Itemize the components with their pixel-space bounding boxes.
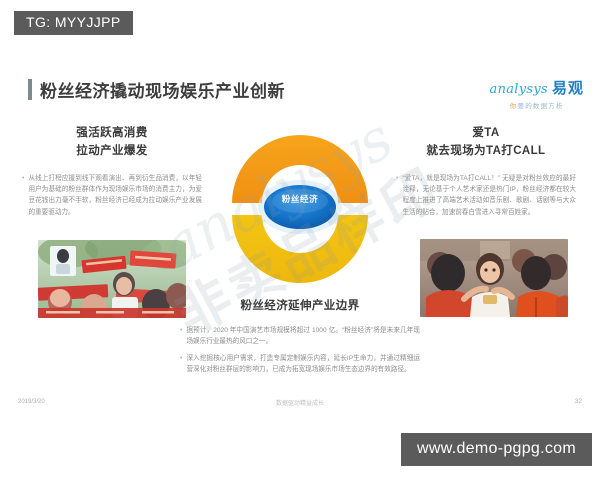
- bullet-dot-icon: •: [180, 325, 182, 348]
- list-item: • “爱TA，就是现场为TA打CALL！” 无疑是对粉丝效应的最好诠释，无论基于…: [396, 173, 576, 218]
- logo-tagline: 你要的数据方析: [490, 100, 584, 110]
- list-item: • 深入挖掘核心用户需求，打造专属定制娱乐内容，延长IP生命力，并通过精细运营深…: [180, 353, 420, 376]
- bullet-text: 从线上打榜应援到线下观看演出、再到衍生品消费，以年轻用户为基础的粉丝群体作为现场…: [28, 173, 202, 218]
- center-heading: 粉丝经济延伸产业边界: [180, 297, 420, 313]
- bullet-text: 深入挖掘核心用户需求，打造专属定制娱乐内容，延长IP生命力，并通过精细运营深化对…: [186, 353, 420, 376]
- brand-logo: analysys 易观 你要的数据方析: [490, 77, 584, 110]
- left-photo: [38, 240, 186, 318]
- slide-canvas: 粉丝经济撬动现场娱乐产业创新 analysys 易观 你要的数据方析 强活跃高消…: [0, 57, 600, 415]
- fan-economy-diagram: 粉丝经济: [212, 119, 388, 291]
- bullet-dot-icon: •: [396, 173, 398, 218]
- bullet-dot-icon: •: [180, 353, 182, 376]
- center-column: 粉丝经济延伸产业边界 • 据预计，2020 年中国演艺市场规模将超过 1000 …: [180, 297, 420, 380]
- bullet-text: “爱TA，就是现场为TA打CALL！” 无疑是对粉丝效应的最好诠释，无论基于个人…: [402, 173, 576, 218]
- list-item: • 据预计，2020 年中国演艺市场规模将超过 1000 亿。“粉丝经济”将是未…: [180, 325, 420, 348]
- left-column-heading: 强活跃高消费 拉动产业爆发: [22, 125, 202, 161]
- right-column-bullets: • “爱TA，就是现场为TA打CALL！” 无疑是对粉丝效应的最好诠释，无论基于…: [396, 173, 576, 218]
- logo-english-text: analysys: [490, 82, 548, 97]
- bullet-text: 据预计，2020 年中国演艺市场规模将超过 1000 亿。“粉丝经济”将是未来几…: [186, 325, 420, 348]
- list-item: • 从线上打榜应援到线下观看演出、再到衍生品消费，以年轻用户为基础的粉丝群体作为…: [22, 173, 202, 218]
- logo-tagline-highlight: 你: [510, 103, 518, 110]
- right-column-heading: 爱TA 就去现场为TA打CALL: [396, 125, 576, 161]
- right-heading-line-2: 就去现场为TA打CALL: [396, 143, 576, 161]
- logo-tagline-rest: 要的数据方析: [518, 103, 564, 110]
- footer-note: 数据驱动精益成长: [0, 398, 600, 407]
- center-column-bullets: • 据预计，2020 年中国演艺市场规模将超过 1000 亿。“粉丝经济”将是未…: [180, 325, 420, 375]
- site-watermark-tag: www.demo-pgpg.com: [401, 433, 592, 466]
- left-heading-line-1: 强活跃高消费: [22, 125, 202, 143]
- title-text: 粉丝经济撬动现场娱乐产业创新: [40, 77, 285, 102]
- page-number: 32: [575, 398, 582, 405]
- left-heading-line-2: 拉动产业爆发: [22, 143, 202, 161]
- logo-wordmark: analysys 易观: [490, 77, 584, 98]
- right-photo: [420, 239, 568, 317]
- left-column: 强活跃高消费 拉动产业爆发 • 从线上打榜应援到线下观看演出、再到衍生品消费，以…: [22, 125, 202, 223]
- page-title: 粉丝经济撬动现场娱乐产业创新: [28, 77, 285, 102]
- right-heading-line-1: 爱TA: [396, 125, 576, 143]
- top-left-tag: TG: MYYJJPP: [14, 11, 133, 35]
- logo-chinese-text: 易观: [552, 77, 584, 98]
- right-column: 爱TA 就去现场为TA打CALL • “爱TA，就是现场为TA打CALL！” 无…: [396, 125, 576, 223]
- bullet-dot-icon: •: [22, 173, 24, 218]
- title-accent-bar: [28, 79, 32, 100]
- left-column-bullets: • 从线上打榜应援到线下观看演出、再到衍生品消费，以年轻用户为基础的粉丝群体作为…: [22, 173, 202, 218]
